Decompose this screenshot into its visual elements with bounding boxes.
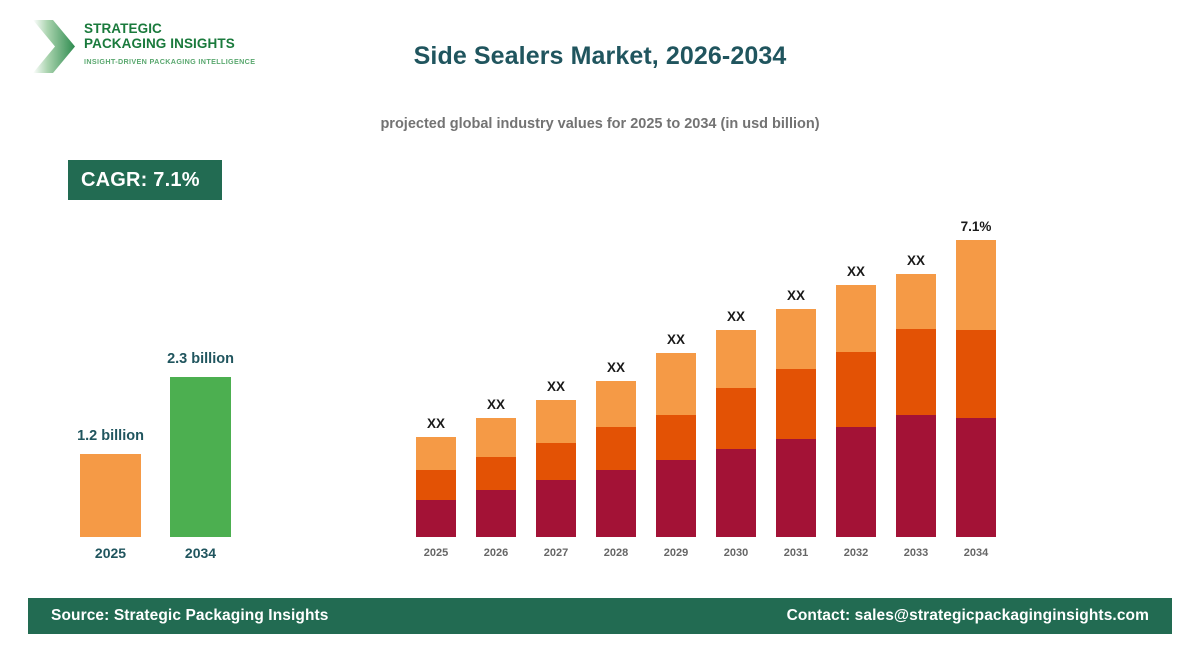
stacked-bar-2033 [896, 274, 936, 537]
stacked-segment-segment-2-2027 [536, 443, 576, 480]
stacked-segment-segment-1-2032 [836, 427, 876, 537]
stacked-bar-group-2034: 7.1%2034 [956, 180, 996, 560]
simple-bar-value-2034: 2.3 billion [150, 351, 251, 367]
stacked-segment-segment-2-2030 [716, 388, 756, 449]
stacked-bar-top-label-2031: XX [762, 288, 830, 303]
stacked-bar-group-2032: XX2032 [836, 180, 876, 560]
stacked-bar-group-2030: XX2030 [716, 180, 756, 560]
stacked-bar-2026 [476, 418, 516, 537]
stacked-bar-top-label-2030: XX [702, 309, 770, 324]
stacked-bar-group-2029: XX2029 [656, 180, 696, 560]
simple-bar-value-2025: 1.2 billion [60, 428, 161, 444]
stacked-bar-group-2027: XX2027 [536, 180, 576, 560]
stacked-segment-segment-1-2034 [956, 418, 996, 537]
stacked-bar-year-2030: 2030 [706, 547, 766, 559]
stacked-bar-year-2029: 2029 [646, 547, 706, 559]
stacked-bar-2032 [836, 285, 876, 537]
stacked-bar-top-label-2032: XX [822, 264, 890, 279]
stacked-bar-top-label-2027: XX [522, 379, 590, 394]
stacked-segment-segment-3-2031 [776, 309, 816, 369]
stacked-segment-segment-3-2029 [656, 353, 696, 415]
stacked-bar-top-label-2026: XX [462, 397, 530, 412]
footer-contact: Contact: sales@strategicpackaginginsight… [787, 607, 1149, 625]
stacked-segment-segment-2-2026 [476, 457, 516, 490]
simple-bar-2025 [80, 454, 141, 537]
footer-source: Source: Strategic Packaging Insights [51, 607, 329, 625]
stacked-bar-top-label-2028: XX [582, 360, 650, 375]
stacked-segment-segment-3-2030 [716, 330, 756, 388]
stacked-segment-segment-3-2027 [536, 400, 576, 443]
stacked-bar-year-2034: 2034 [946, 547, 1006, 559]
stacked-segment-segment-3-2025 [416, 437, 456, 470]
stacked-segment-segment-1-2031 [776, 439, 816, 537]
simple-bar-2034 [170, 377, 231, 537]
stacked-segment-segment-1-2025 [416, 500, 456, 537]
stacked-bar-year-2033: 2033 [886, 547, 946, 559]
stacked-bar-group-2028: XX2028 [596, 180, 636, 560]
stacked-segment-segment-2-2025 [416, 470, 456, 500]
stacked-bar-2028 [596, 381, 636, 537]
stacked-segment-segment-1-2028 [596, 470, 636, 537]
stacked-bar-year-2027: 2027 [526, 547, 586, 559]
endpoint-comparison-chart: 1.2 billion20252.3 billion2034 [0, 0, 330, 650]
stacked-bar-2031 [776, 309, 816, 537]
stacked-bar-year-2032: 2032 [826, 547, 886, 559]
stacked-bar-year-2028: 2028 [586, 547, 646, 559]
stacked-bar-group-2025: XX2025 [416, 180, 456, 560]
stacked-bar-top-label-2033: XX [882, 253, 950, 268]
stacked-segment-segment-2-2034 [956, 330, 996, 418]
stacked-segment-segment-3-2032 [836, 285, 876, 352]
stacked-bar-2034 [956, 240, 996, 537]
stacked-bar-year-2025: 2025 [406, 547, 466, 559]
stacked-bar-group-2026: XX2026 [476, 180, 516, 560]
yearly-stacked-forecast-chart: XX2025XX2026XX2027XX2028XX2029XX2030XX20… [400, 180, 1020, 560]
stacked-segment-segment-3-2033 [896, 274, 936, 329]
stacked-segment-segment-1-2026 [476, 490, 516, 537]
stacked-bar-top-label-2025: XX [402, 416, 470, 431]
stacked-segment-segment-2-2032 [836, 352, 876, 427]
stacked-segment-segment-3-2028 [596, 381, 636, 427]
footer-bar: Source: Strategic Packaging Insights Con… [28, 598, 1172, 634]
stacked-segment-segment-2-2033 [896, 329, 936, 415]
stacked-segment-segment-3-2034 [956, 240, 996, 330]
stacked-segment-segment-3-2026 [476, 418, 516, 457]
stacked-bar-2029 [656, 353, 696, 537]
stacked-segment-segment-1-2027 [536, 480, 576, 537]
stacked-segment-segment-2-2028 [596, 427, 636, 470]
stacked-bar-2027 [536, 400, 576, 537]
stacked-bar-2030 [716, 330, 756, 537]
stacked-bar-group-2031: XX2031 [776, 180, 816, 560]
simple-bar-year-2025: 2025 [60, 545, 161, 561]
stacked-segment-segment-2-2029 [656, 415, 696, 460]
stacked-segment-segment-1-2029 [656, 460, 696, 537]
stacked-segment-segment-1-2030 [716, 449, 756, 537]
stacked-bar-group-2033: XX2033 [896, 180, 936, 560]
simple-bar-year-2034: 2034 [150, 545, 251, 561]
stacked-bar-top-label-2034: 7.1% [942, 219, 1010, 234]
stacked-bar-top-label-2029: XX [642, 332, 710, 347]
infographic-page: STRATEGIC PACKAGING INSIGHTS INSIGHT-DRI… [0, 0, 1200, 650]
stacked-bar-2025 [416, 437, 456, 537]
stacked-segment-segment-1-2033 [896, 415, 936, 537]
stacked-bar-year-2031: 2031 [766, 547, 826, 559]
stacked-segment-segment-2-2031 [776, 369, 816, 439]
stacked-bar-year-2026: 2026 [466, 547, 526, 559]
